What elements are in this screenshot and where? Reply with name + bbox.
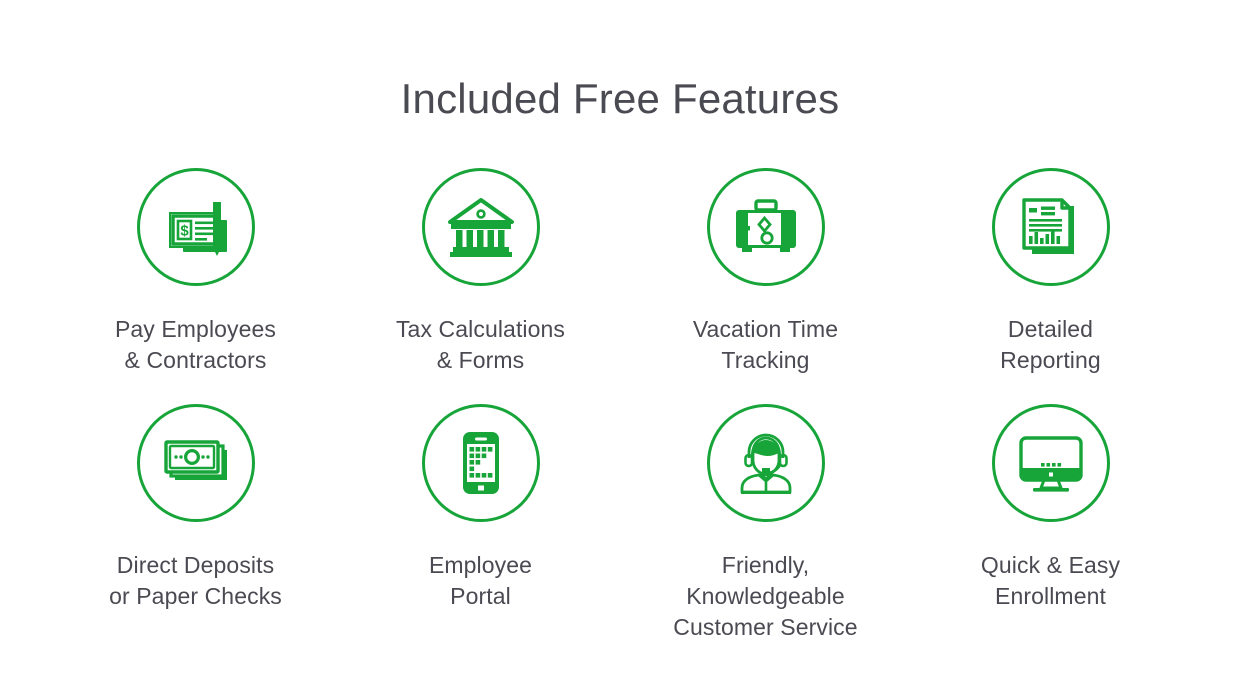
feature-item-detailed-reporting[interactable]: Detailed Reporting	[908, 168, 1193, 376]
bank-building-icon	[422, 168, 540, 286]
features-grid: $ Pay Employees & Contractors	[53, 168, 1187, 643]
headset-agent-icon	[707, 404, 825, 522]
feature-item-customer-service[interactable]: Friendly, Knowledgeable Customer Service	[623, 404, 908, 643]
feature-item-direct-deposits[interactable]: Direct Deposits or Paper Checks	[53, 404, 338, 643]
suitcase-icon	[707, 168, 825, 286]
feature-item-tax-calculations[interactable]: Tax Calculations & Forms	[338, 168, 623, 376]
smartphone-icon	[422, 404, 540, 522]
check-with-pen-icon: $	[137, 168, 255, 286]
feature-item-vacation-time[interactable]: Vacation Time Tracking	[623, 168, 908, 376]
feature-item-pay-employees[interactable]: $ Pay Employees & Contractors	[53, 168, 338, 376]
feature-label: Tax Calculations & Forms	[396, 314, 565, 376]
feature-label: Employee Portal	[429, 550, 532, 612]
desktop-monitor-icon	[992, 404, 1110, 522]
feature-label: Pay Employees & Contractors	[115, 314, 276, 376]
svg-text:$: $	[180, 223, 189, 240]
feature-item-quick-enrollment[interactable]: Quick & Easy Enrollment	[908, 404, 1193, 643]
feature-item-employee-portal[interactable]: Employee Portal	[338, 404, 623, 643]
report-document-chart-icon	[992, 168, 1110, 286]
cash-stack-icon	[137, 404, 255, 522]
feature-label: Vacation Time Tracking	[693, 314, 838, 376]
features-page: Included Free Features $	[0, 0, 1240, 697]
feature-label: Direct Deposits or Paper Checks	[109, 550, 282, 612]
feature-label: Quick & Easy Enrollment	[981, 550, 1120, 612]
feature-label: Friendly, Knowledgeable Customer Service	[673, 550, 857, 643]
feature-label: Detailed Reporting	[1000, 314, 1101, 376]
page-title: Included Free Features	[0, 76, 1240, 122]
